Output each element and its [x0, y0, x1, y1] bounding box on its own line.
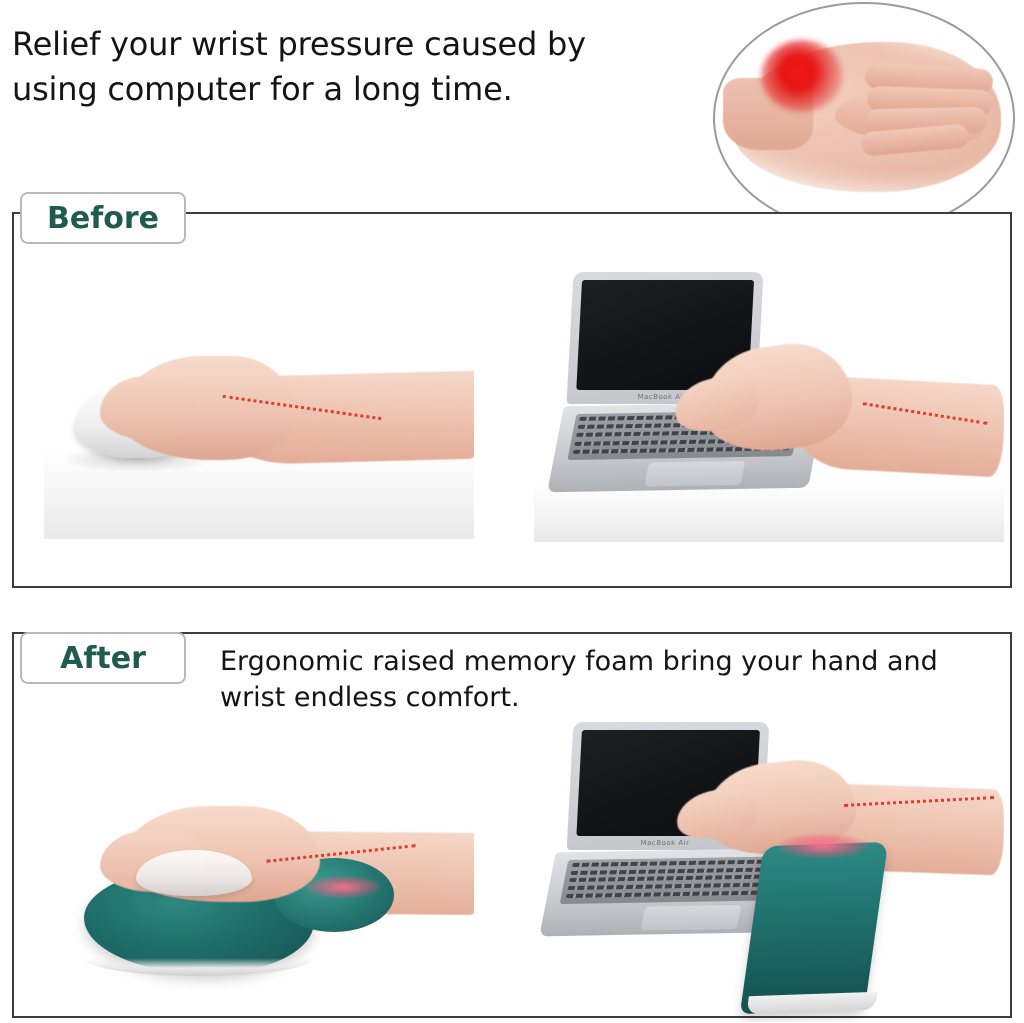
keyboard-row — [565, 890, 787, 898]
wrist-pain-inset — [713, 2, 1015, 234]
before-panel: MacBook Air — [12, 212, 1012, 588]
fingers — [100, 376, 196, 440]
photo-hand-on-laptop-pad: MacBook Air — [534, 722, 1004, 1022]
keyboard-row — [567, 883, 789, 891]
laptop-trackpad — [640, 905, 741, 931]
page-title: Relief your wrist pressure caused by usi… — [12, 22, 712, 113]
wrist-rest-keyboard-pad — [740, 842, 888, 1014]
pain-hotspot-icon — [761, 40, 843, 112]
photo-hand-on-mouse-pad — [44, 784, 474, 1014]
after-caption: Ergonomic raised memory foam bring your … — [220, 644, 960, 717]
photo-hand-on-laptop-no-pad: MacBook Air — [534, 272, 1004, 542]
badge-before: Before — [20, 192, 186, 244]
pad-base-rim — [746, 992, 877, 1014]
photo-hand-on-mouse-no-pad — [44, 324, 474, 539]
badge-after: After — [20, 632, 186, 684]
pad-pink-highlight — [778, 834, 868, 858]
pad-pink-highlight — [306, 876, 380, 898]
pad-base-rim — [84, 958, 314, 976]
laptop-trackpad — [644, 461, 745, 487]
